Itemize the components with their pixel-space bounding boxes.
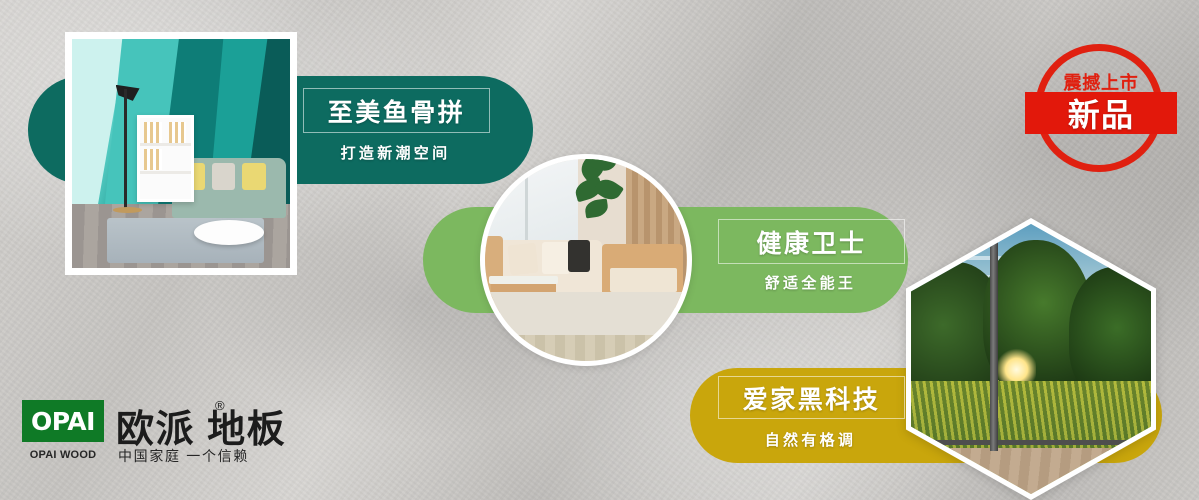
circle-photo-floor — [485, 335, 687, 361]
photo-hexagon-nature — [906, 218, 1156, 500]
logo-english-name: OPAI WOOD — [22, 446, 104, 464]
circle-photo-plant — [570, 154, 627, 236]
logo-mark-text: OPAI — [31, 407, 95, 436]
gold-panel-subtitle: 自然有格调 — [718, 427, 903, 451]
circle-photo-table-top — [489, 276, 558, 284]
square-photo-coffee-table — [194, 220, 264, 245]
promo-banner: 至美鱼骨拼 打造新潮空间 健康卫士 舒适全能王 — [0, 0, 1199, 500]
circle-photo-rug — [485, 292, 687, 336]
circle-photo-pillow — [542, 242, 570, 274]
hex-photo-window-mullion — [990, 224, 998, 451]
photo-circle-wood-room — [480, 154, 692, 366]
green-panel-title: 健康卫士 — [718, 219, 905, 264]
green-panel-subtitle: 舒适全能王 — [718, 270, 903, 294]
square-photo-cushion — [242, 163, 266, 190]
circle-photo-pillow-dark — [568, 240, 590, 272]
brand-logo: OPAI OPAI WOOD 欧派 地板 ® 中国家庭 一个信赖 — [22, 400, 290, 470]
photo-square-teal-room — [65, 32, 297, 275]
circle-photo-pillow — [508, 242, 539, 275]
registered-trademark-icon: ® — [215, 398, 225, 413]
square-photo-cushion — [212, 163, 236, 190]
circle-photo-armchair-seat — [610, 268, 677, 292]
logo-chinese-name: 欧派 地板 — [116, 398, 286, 453]
square-photo-shelf — [137, 115, 194, 202]
logo-mark-box: OPAI — [22, 400, 104, 442]
teal-panel-title: 至美鱼骨拼 — [303, 88, 490, 133]
new-product-badge: 震撼上市 新品 — [1025, 40, 1177, 170]
badge-main-text: 新品 — [1025, 90, 1177, 136]
teal-panel-subtitle: 打造新潮空间 — [303, 140, 488, 164]
hexagon-photo-inner — [911, 224, 1151, 494]
gold-panel-title: 爱家黑科技 — [718, 376, 905, 419]
logo-slogan: 中国家庭 一个信赖 — [118, 446, 249, 466]
hex-photo-window-sill — [911, 440, 1151, 445]
square-photo-lamp-pole — [124, 89, 127, 208]
square-photo-lamp-base — [113, 207, 141, 213]
hex-photo-wood-floor — [911, 448, 1151, 494]
